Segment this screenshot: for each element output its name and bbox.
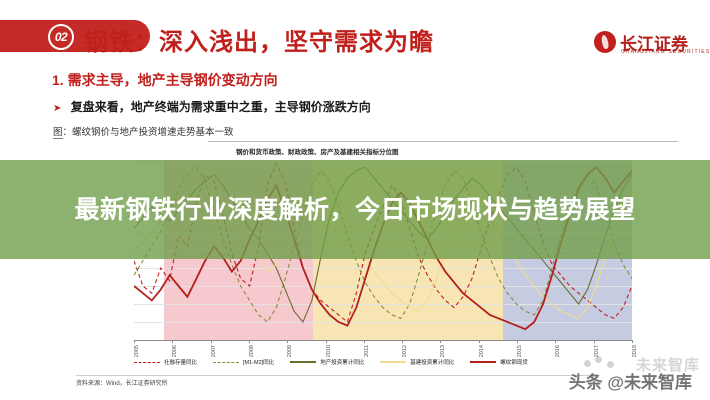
legend-label: 螺纹钢现货 [500, 358, 528, 366]
chart-x-tick [134, 340, 135, 343]
legend-swatch [134, 362, 160, 363]
chart-x-tick [440, 340, 441, 343]
legend-swatch [470, 361, 496, 363]
slide-header: 02 钢铁：深入浅出，坚守需求为瞻 长江证券 CHANGJIANG SECURI… [0, 14, 710, 58]
slide-canvas: 02 钢铁：深入浅出，坚守需求为瞻 长江证券 CHANGJIANG SECURI… [0, 0, 710, 400]
legend-swatch [380, 361, 406, 363]
chart-x-tick [249, 340, 250, 343]
chart-x-tick [632, 340, 633, 343]
legend-swatch [290, 361, 316, 363]
logo-emblem-icon [594, 31, 616, 53]
header-divider [208, 141, 678, 142]
logo-name-en: CHANGJIANG SECURITIES [621, 49, 710, 55]
chart-x-tick [172, 340, 173, 343]
section-number-badge: 02 [48, 24, 74, 50]
section-subheading: 1. 需求主导，地产主导钢价变动方向 [52, 70, 278, 90]
figure-caption: 图：螺纹钢价与地产投资增速走势基本一致 [53, 124, 234, 138]
figure-caption-text: ：螺纹钢价与地产投资增速走势基本一致 [63, 127, 234, 138]
bullet-line: ➤ 复盘来看，地产终端为需求重中之重，主导钢价涨跌方向 [53, 98, 371, 115]
article-title-overlay: 最新钢铁行业深度解析，今日市场现状与趋势展望 [0, 160, 710, 259]
legend-item[interactable]: 社融存量同比 [134, 358, 197, 366]
watermark-handle: 头条 @未来智库 [569, 368, 692, 393]
article-title: 最新钢铁行业深度解析，今日市场现状与趋势展望 [25, 191, 685, 229]
bullet-text: 复盘来看，地产终端为需求重中之重，主导钢价涨跌方向 [71, 100, 371, 114]
legend-label: [M1-M2]同比 [243, 358, 274, 366]
legend-label: 基建投资累计同比 [410, 358, 454, 366]
chart-x-tick [211, 340, 212, 343]
legend-swatch [213, 362, 239, 363]
watermark: 未来智库 头条 @未来智库 [554, 354, 704, 398]
legend-label: 地产投资累计同比 [320, 358, 364, 366]
legend-item[interactable]: [M1-M2]同比 [213, 358, 274, 366]
watermark-platform: 头条 [569, 373, 603, 392]
chart-x-tick [517, 340, 518, 343]
legend-item[interactable]: 地产投资累计同比 [290, 358, 364, 366]
figure-caption-prefix: 图 [53, 127, 63, 139]
chart-title: 钢价和货币政策、财政政策、房产及基建相关指标分位图 [236, 146, 399, 156]
source-label: 资料来源： [76, 381, 106, 387]
chart-source: 资料来源：Wind，长江证券研究所 [76, 378, 168, 387]
source-divider [76, 375, 596, 376]
chart-x-tick [555, 340, 556, 343]
page-title: 钢铁：深入浅出，坚守需求为瞻 [84, 22, 434, 57]
chart-x-axis: 2005200620072008200920102011201220132014… [134, 340, 632, 341]
changjiang-securities-logo: 长江证券 CHANGJIANG SECURITIES [594, 30, 698, 60]
chart-x-tick [326, 340, 327, 343]
bullet-arrow-icon: ➤ [53, 103, 61, 114]
chart-x-tick [402, 340, 403, 343]
legend-label: 社融存量同比 [164, 358, 197, 366]
chart-x-tick [594, 340, 595, 343]
chart-x-tick [287, 340, 288, 343]
chart-x-tick [479, 340, 480, 343]
watermark-account: @未来智库 [607, 373, 692, 392]
legend-item[interactable]: 基建投资累计同比 [380, 358, 454, 366]
legend-item[interactable]: 螺纹钢现货 [470, 358, 528, 366]
source-value: Wind，长江证券研究所 [106, 381, 168, 387]
chart-x-tick [364, 340, 365, 343]
